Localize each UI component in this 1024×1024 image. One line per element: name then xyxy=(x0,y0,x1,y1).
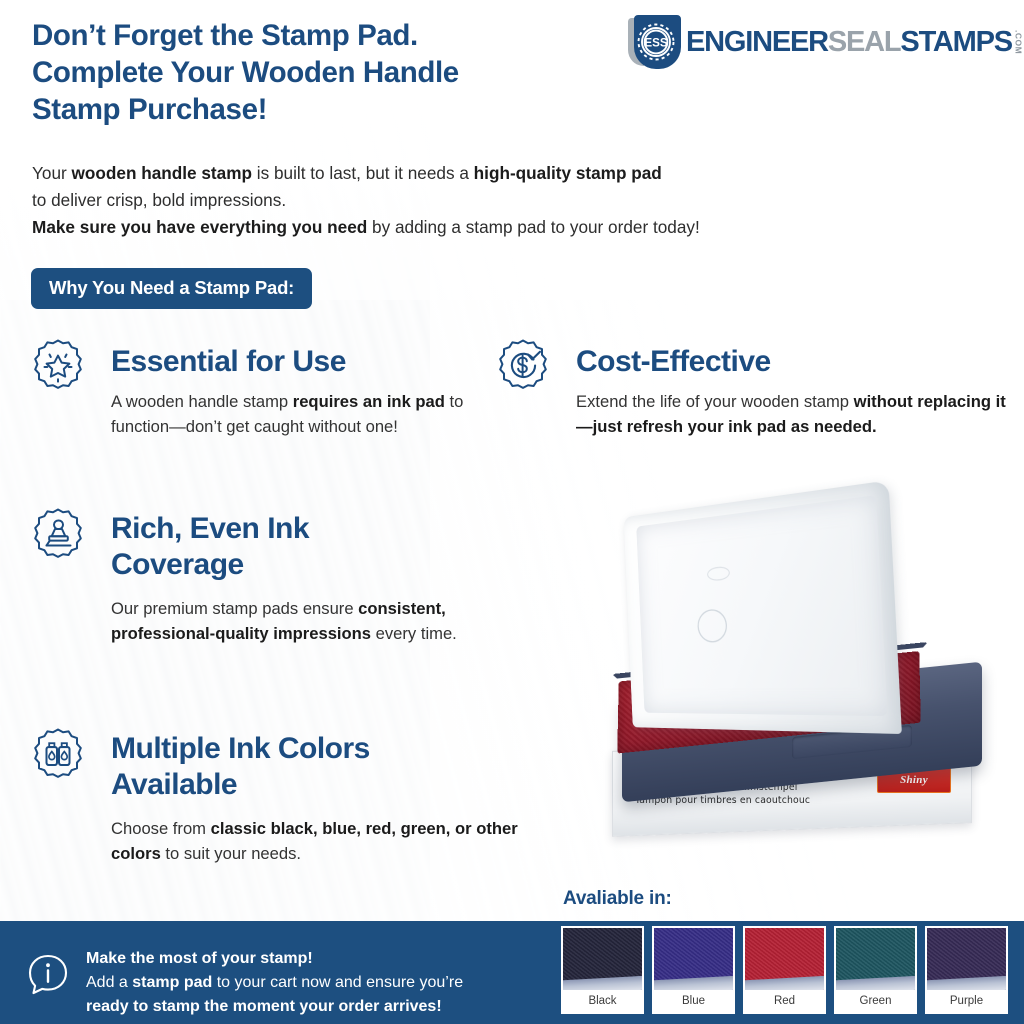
swatch-color xyxy=(836,928,915,990)
feature-title: Rich, Even Ink Coverage xyxy=(111,505,497,583)
swatch-red[interactable]: Red xyxy=(743,926,826,1014)
intro-line-2: to deliver crisp, bold impressions. xyxy=(32,187,912,214)
logo-mark-text: ESS xyxy=(644,36,667,49)
brand-logo[interactable]: ESS ENGINEER SEAL STAMPS .COM xyxy=(628,14,1018,70)
logo-word-stamps: STAMPS xyxy=(900,26,1012,59)
info-bubble-icon xyxy=(24,951,72,999)
feature-essential-for-use: Essential for Use A wooden handle stamp … xyxy=(27,336,497,439)
section-badge: Why You Need a Stamp Pad: xyxy=(31,268,312,309)
feature-body-a: Extend the life of your wooden stamp xyxy=(576,392,854,411)
feature-title: Essential for Use xyxy=(111,336,497,380)
feature-title-line-2: Coverage xyxy=(111,548,244,581)
feature-title: Multiple Ink Colors Available xyxy=(111,725,537,803)
ink-color-swatches: Black Blue Red Green Purple xyxy=(561,926,1008,1014)
product-photo-stamp-pad: Stamp pad for rubber stamps Almohadilla … xyxy=(556,492,1020,892)
logo-wordmark: ENGINEER SEAL STAMPS .COM xyxy=(686,22,1022,62)
headline-line-1: Don’t Forget the Stamp Pad. xyxy=(32,17,652,54)
swatch-black[interactable]: Black xyxy=(561,926,644,1014)
feature-body: Choose from classic black, blue, red, gr… xyxy=(111,817,531,866)
banner-line-1: Make the most of your stamp! xyxy=(86,947,556,971)
swatch-label: Purple xyxy=(927,990,1006,1012)
page-title: Don’t Forget the Stamp Pad. Complete You… xyxy=(32,17,652,128)
logo-badge: ESS xyxy=(628,15,682,69)
swatch-color xyxy=(745,928,824,990)
lid-emboss-oval xyxy=(707,566,730,582)
banner-line-2-c: to your cart now and ensure you’re xyxy=(212,974,463,991)
swatch-color xyxy=(654,928,733,990)
swatch-label: Green xyxy=(836,990,915,1012)
feature-title-line-2: Available xyxy=(111,768,237,801)
headline-line-3: Stamp Purchase! xyxy=(32,91,652,128)
intro-line-3-a: Make sure you have everything you need xyxy=(32,217,367,237)
stamp-pad-lid xyxy=(624,480,902,734)
swatch-label: Red xyxy=(745,990,824,1012)
banner-line-2-a: Add a xyxy=(86,974,132,991)
intro-line-1-a: Your xyxy=(32,163,72,183)
banner-line-2-b: stamp pad xyxy=(132,974,212,991)
swatch-label: Blue xyxy=(654,990,733,1012)
stamp-pad-lid-face xyxy=(636,495,887,716)
intro-line-1-d: high-quality stamp pad xyxy=(474,163,662,183)
intro-line-1: Your wooden handle stamp is built to las… xyxy=(32,160,912,187)
feature-cost-effective: Cost-Effective Extend the life of your w… xyxy=(492,336,1022,439)
feature-body: Extend the life of your wooden stamp wit… xyxy=(576,390,1006,439)
feature-title-line-1: Multiple Ink Colors xyxy=(111,732,370,765)
stamp-badge-icon xyxy=(27,505,89,567)
feature-rich-even-ink-coverage: Rich, Even Ink Coverage Our premium stam… xyxy=(27,505,497,646)
gear-icon: ESS xyxy=(633,19,679,65)
star-badge-icon xyxy=(27,336,89,398)
feature-body-b: requires an ink pad xyxy=(293,392,445,411)
header: Don’t Forget the Stamp Pad. Complete You… xyxy=(0,0,1024,150)
logo-tld: .COM xyxy=(1014,30,1023,54)
logo-word-seal: SEAL xyxy=(828,26,901,59)
feature-body-a: Choose from xyxy=(111,819,211,838)
intro-paragraph: Your wooden handle stamp is built to las… xyxy=(32,160,912,241)
dollar-check-badge-icon xyxy=(492,336,554,398)
banner-line-3: ready to stamp the moment your order arr… xyxy=(86,995,556,1019)
lid-emboss-circle xyxy=(697,608,728,643)
intro-line-1-b: wooden handle stamp xyxy=(72,163,253,183)
feature-body-a: A wooden handle stamp xyxy=(111,392,293,411)
intro-line-3: Make sure you have everything you need b… xyxy=(32,214,912,241)
banner-text: Make the most of your stamp! Add a stamp… xyxy=(86,947,556,1019)
headline-line-2: Complete Your Wooden Handle xyxy=(32,54,652,91)
shiny-brand-text: Shiny xyxy=(900,774,928,786)
swatch-green[interactable]: Green xyxy=(834,926,917,1014)
swatch-purple[interactable]: Purple xyxy=(925,926,1008,1014)
swatch-color xyxy=(927,928,1006,990)
feature-body-c: to suit your needs. xyxy=(161,844,301,863)
intro-line-1-c: is built to last, but it needs a xyxy=(252,163,474,183)
feature-body: A wooden handle stamp requires an ink pa… xyxy=(111,390,499,439)
feature-body-a: Our premium stamp pads ensure xyxy=(111,599,358,618)
feature-title: Cost-Effective xyxy=(576,336,1022,380)
swatch-label: Black xyxy=(563,990,642,1012)
logo-word-engineer: ENGINEER xyxy=(686,26,828,59)
banner-line-2: Add a stamp pad to your cart now and ens… xyxy=(86,971,556,995)
intro-line-3-b: by adding a stamp pad to your order toda… xyxy=(367,217,700,237)
feature-title-line-1: Rich, Even Ink xyxy=(111,512,309,545)
ink-bottles-badge-icon xyxy=(27,725,89,787)
feature-body: Our premium stamp pads ensure consistent… xyxy=(111,597,483,646)
feature-multiple-ink-colors: Multiple Ink Colors Available Choose fro… xyxy=(27,725,537,866)
swatch-blue[interactable]: Blue xyxy=(652,926,735,1014)
feature-body-c: every time. xyxy=(371,624,457,643)
available-in-title: Avaliable in: xyxy=(563,888,672,910)
swatch-color xyxy=(563,928,642,990)
